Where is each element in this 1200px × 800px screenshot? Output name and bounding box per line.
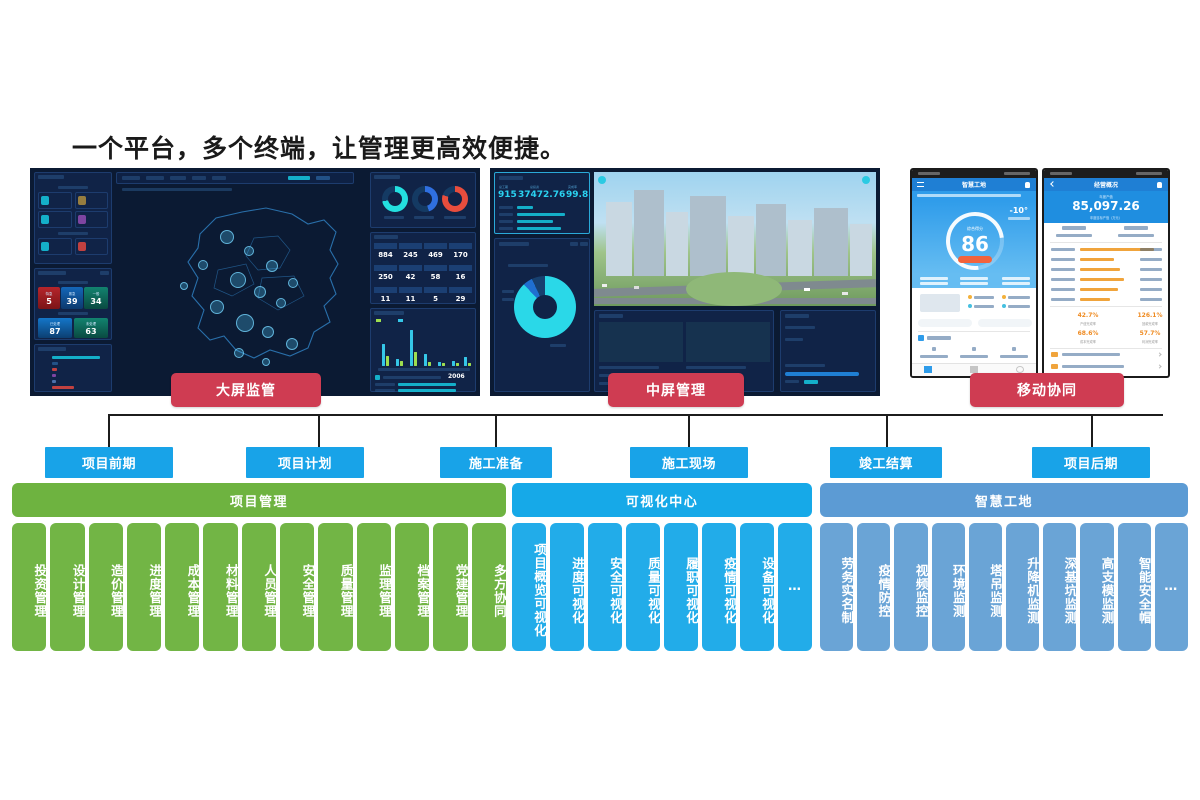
bs-filter-chip[interactable] <box>192 176 206 180</box>
group-card-list: 劳务实名制疫情防控视频监控环境监测塔吊监测升降机监测深基坑监测高支模监测智能安全… <box>820 523 1188 651</box>
people-grid-header <box>424 243 447 249</box>
bs-subtitle <box>58 312 88 315</box>
group-card-list: 投资管理设计管理造价管理进度管理成本管理材料管理人员管理安全管理质量管理监理管理… <box>12 523 506 651</box>
people-grid-value: 16 <box>449 273 472 281</box>
people-icon <box>918 335 924 341</box>
tree-horizontal-line <box>108 414 1163 416</box>
people-grid-value: 29 <box>449 295 472 303</box>
finance-row-amount <box>1140 258 1162 261</box>
people-grid-header <box>424 265 447 271</box>
helmet-icon <box>41 242 49 251</box>
card-pm-2[interactable]: 造价管理 <box>89 523 123 651</box>
finance-row-amount <box>1140 288 1162 291</box>
finance-row-bar <box>1080 278 1124 281</box>
bs-panel-ranking <box>34 344 112 392</box>
score-hero: -10° 综合得分 86 <box>912 200 1036 274</box>
bs-stat-value: 5 <box>46 298 52 306</box>
score-value: 86 <box>946 232 1004 256</box>
hero-footer <box>912 274 1036 288</box>
bs-rank-bar <box>52 362 58 365</box>
ms-panel-donut-title <box>499 242 529 246</box>
ms-progress-chip <box>804 380 818 384</box>
bs-stat-card: 未处理 63 <box>74 318 108 338</box>
group-title: 可视化中心 <box>512 483 812 517</box>
finance-row-bar <box>1080 288 1118 291</box>
badge-mid-screen[interactable]: 中屏管理 <box>608 373 744 407</box>
finance-row-bar <box>1080 268 1120 271</box>
finance-row-label <box>1051 278 1075 281</box>
bs-divider-label <box>58 232 88 235</box>
people-grid-value: 11 <box>374 295 397 303</box>
phase-button-0[interactable]: 项目前期 <box>45 447 173 478</box>
ms-progress-label <box>785 338 803 341</box>
bs-year-caption <box>383 376 441 379</box>
card-sw-0[interactable]: 劳务实名制 <box>820 523 853 651</box>
card-vc-1[interactable]: 进度可视化 <box>550 523 584 651</box>
alert-icon <box>78 242 86 251</box>
bs-progress-label <box>375 383 395 386</box>
finance-percent-value: 42.7% <box>1068 312 1108 319</box>
people-grid-value: 42 <box>399 273 422 281</box>
info-icon <box>375 375 380 380</box>
bs-panel-trend-title <box>374 311 404 315</box>
bs-stat-value: 63 <box>85 328 96 336</box>
map-marker[interactable] <box>210 300 224 314</box>
bs-filter-chip[interactable] <box>316 176 330 180</box>
card-sw-4[interactable]: 塔吊监测 <box>969 523 1002 651</box>
ms-info-value <box>517 206 533 209</box>
legend-swatch <box>398 319 403 322</box>
people-count <box>1012 347 1016 351</box>
app-header: 经营概况 <box>1044 178 1168 191</box>
bar-chart-axis-labels <box>378 368 470 371</box>
finance-percent-label: 回款完成率 <box>1130 321 1170 326</box>
map-marker[interactable] <box>180 282 188 290</box>
map-marker[interactable] <box>254 286 266 298</box>
card-vc-5[interactable]: 疫情可视化 <box>702 523 736 651</box>
phase-button-1[interactable]: 项目计划 <box>246 447 364 478</box>
finance-row-label <box>1051 248 1075 251</box>
shield-icon <box>598 176 606 184</box>
card-pm-7[interactable]: 安全管理 <box>280 523 314 651</box>
document-icon <box>41 196 49 205</box>
group-visualization-center: 可视化中心 项目概览可视化进度可视化安全可视化质量可视化履职可视化疫情可视化设备… <box>512 483 812 517</box>
metric-dot <box>1002 295 1006 299</box>
metric-dot <box>968 295 972 299</box>
bs-filter-active-chip[interactable] <box>288 176 310 180</box>
summary-row <box>1044 223 1168 241</box>
app-header: 智慧工地 <box>912 178 1036 191</box>
phase-button-4[interactable]: 竣工结算 <box>830 447 942 478</box>
finance-row-amount <box>1140 268 1162 271</box>
finance-percent-value: 57.7% <box>1130 330 1170 337</box>
card-pm-9[interactable]: 监理管理 <box>357 523 391 651</box>
people-label <box>920 355 948 358</box>
group-card-list: 项目概览可视化进度可视化安全可视化质量可视化履职可视化疫情可视化设备可视化… <box>512 523 812 651</box>
card-pm-3[interactable]: 进度管理 <box>127 523 161 651</box>
people-grid-value: 58 <box>424 273 447 281</box>
badge-mobile[interactable]: 移动协同 <box>970 373 1124 407</box>
bs-stat-label: 未处理 <box>86 321 96 326</box>
finance-percent-value: 68.6% <box>1068 330 1108 337</box>
group-project-management: 项目管理 投资管理设计管理造价管理进度管理成本管理材料管理人员管理安全管理质量管… <box>12 483 506 517</box>
amount-hero: 年度产值 85,097.26 年度目标产值（万元） <box>1044 191 1168 223</box>
bs-stat-label: 紧急 <box>69 291 76 296</box>
ms-progress-label <box>785 326 815 329</box>
ms-info-value <box>517 220 553 223</box>
card-sw-8[interactable]: 智能安全帽 <box>1118 523 1151 651</box>
chevron-right-icon[interactable] <box>1157 364 1161 368</box>
finance-row-amount <box>1140 298 1162 301</box>
ms-panel-project-info <box>494 172 590 234</box>
finance-row-amount <box>1140 278 1162 281</box>
finance-percent-label: 利润完成率 <box>1130 339 1170 344</box>
bs-panel-ranking-title <box>38 347 66 351</box>
legend-swatch <box>376 319 381 322</box>
card-sw-6[interactable]: 深基坑监测 <box>1043 523 1076 651</box>
people-count <box>972 347 976 351</box>
pm25-chip <box>978 319 1032 327</box>
donut-caption <box>444 216 466 219</box>
people-icon <box>78 215 86 224</box>
people-grid-header <box>449 287 472 293</box>
card-vc-0[interactable]: 项目概览可视化 <box>512 523 546 651</box>
bs-year-value: 2006 <box>448 373 465 380</box>
list-item-label[interactable] <box>1062 365 1124 368</box>
camera-feed[interactable] <box>599 322 683 362</box>
bs-divider-label <box>58 186 88 189</box>
ms-info-key <box>499 206 513 209</box>
finance-row-amount <box>1140 248 1162 251</box>
bs-filter-chip[interactable] <box>170 176 186 180</box>
map-marker[interactable] <box>244 246 254 256</box>
phase-button-3[interactable]: 施工现场 <box>630 447 748 478</box>
bs-more-link[interactable] <box>100 271 109 275</box>
bs-stat-value: 87 <box>49 328 60 336</box>
people-grid-header <box>374 265 397 271</box>
finance-percent-value: 126.1% <box>1130 312 1170 319</box>
ms-metric-label: 总投资 <box>530 185 539 189</box>
card-sw-9[interactable]: … <box>1155 523 1188 651</box>
people-grid-value: 469 <box>424 251 447 259</box>
tree-branch <box>108 414 110 447</box>
ms-panel-camera-title <box>599 314 623 318</box>
mobile-app-dashboard: 智慧工地 -10° 综合得分 86 <box>910 168 1038 378</box>
people-grid-header <box>399 265 422 271</box>
people-grid-value: 5 <box>424 295 447 303</box>
card-vc-2[interactable]: 安全可视化 <box>588 523 622 651</box>
report-icon[interactable] <box>970 366 978 373</box>
group-title: 智慧工地 <box>820 483 1188 517</box>
card-pm-1[interactable]: 设计管理 <box>50 523 84 651</box>
card-pm-10[interactable]: 档案管理 <box>395 523 429 651</box>
camera-feed[interactable] <box>686 322 770 362</box>
app-title: 经营概况 <box>1094 180 1118 189</box>
bs-panel-people-title <box>374 235 398 239</box>
card-vc-4[interactable]: 履职可视化 <box>664 523 698 651</box>
chevron-right-icon[interactable] <box>1157 352 1161 356</box>
bs-panel-overview-title <box>38 175 64 179</box>
finance-row-bar <box>1080 258 1114 261</box>
card-vc-6[interactable]: 设备可视化 <box>740 523 774 651</box>
people-grid-header <box>449 265 472 271</box>
bs-panel-alarms-title <box>38 271 66 275</box>
bell-icon[interactable] <box>1025 182 1030 188</box>
mobile-finance-dashboard: 经营概况 年度产值 85,097.26 年度目标产值（万元） 42.7%产值完成… <box>1042 168 1170 378</box>
device-showcase: 特急 5 紧急 39 一般 34 已处理 87 未处理 63 <box>0 168 1200 400</box>
bs-filter-chip[interactable] <box>212 176 226 180</box>
bs-stat-label: 特急 <box>46 291 53 296</box>
bs-panel-labor-title <box>374 175 400 179</box>
bell-icon[interactable] <box>1157 182 1162 188</box>
card-pm-11[interactable]: 党建管理 <box>433 523 467 651</box>
donut-legend <box>508 264 548 267</box>
bs-stat-value: 39 <box>66 298 77 306</box>
badge-big-screen[interactable]: 大屏监管 <box>171 373 321 407</box>
card-vc-3[interactable]: 质量可视化 <box>626 523 660 651</box>
card-sw-1[interactable]: 疫情防控 <box>857 523 890 651</box>
settings-icon[interactable] <box>862 176 870 184</box>
ms-metric-value: 99.8 <box>566 190 588 200</box>
bs-filter-chip[interactable] <box>122 176 140 180</box>
bs-stat-label: 已处理 <box>50 321 60 326</box>
mid-screen-dashboard: 总工期 总投资 完成率 915 37472.76 99.8 <box>490 168 880 396</box>
site-illustration <box>920 294 960 312</box>
camera-caption <box>599 366 659 369</box>
donut-callout <box>502 298 514 301</box>
people-label <box>1000 355 1028 358</box>
bs-stat-card: 一般 34 <box>84 287 108 309</box>
card-pm-0[interactable]: 投资管理 <box>12 523 46 651</box>
finance-row-label <box>1051 268 1075 271</box>
bs-stat-label: 一般 <box>93 291 100 296</box>
ms-panel-title <box>499 176 523 180</box>
chart-icon <box>41 215 49 224</box>
people-grid-header <box>374 243 397 249</box>
tree-branch <box>1091 414 1093 447</box>
back-icon[interactable] <box>1050 181 1056 187</box>
people-label <box>960 355 988 358</box>
ms-info-value <box>517 213 565 216</box>
map-marker[interactable] <box>266 260 278 272</box>
ms-toggle[interactable] <box>570 242 578 246</box>
profile-icon[interactable] <box>1016 366 1024 373</box>
ms-panel-progress-title <box>785 314 809 318</box>
score-badge <box>958 256 992 263</box>
ms-metric-value: 915 <box>498 190 517 200</box>
donut-chart <box>412 186 438 212</box>
bs-rank-bar <box>52 374 56 377</box>
big-screen-dashboard: 特急 5 紧急 39 一般 34 已处理 87 未处理 63 <box>30 168 480 396</box>
ms-progress-bar <box>785 372 859 376</box>
finance-row-label <box>1051 258 1075 261</box>
card-pm-4[interactable]: 成本管理 <box>165 523 199 651</box>
people-grid-value: 170 <box>449 251 472 259</box>
bs-stat-card: 特急 5 <box>38 287 60 309</box>
card-sw-3[interactable]: 环境监测 <box>932 523 965 651</box>
map-marker[interactable] <box>262 358 270 366</box>
ms-info-key <box>499 227 513 230</box>
camera-caption <box>686 366 746 369</box>
bs-progress-bar <box>398 389 456 392</box>
connector-tree <box>0 414 1200 450</box>
card-pm-8[interactable]: 质量管理 <box>318 523 352 651</box>
notice-banner[interactable] <box>912 191 1036 200</box>
ms-metric-label: 总工期 <box>499 185 508 189</box>
bar-chart <box>378 326 472 366</box>
donut-caption <box>384 216 404 219</box>
metric-dot <box>1002 304 1006 308</box>
page-title: 一个平台，多个终端，让管理更高效便捷。 <box>72 129 566 165</box>
phase-button-5[interactable]: 项目后期 <box>1032 447 1150 478</box>
bs-subtitle <box>58 281 88 284</box>
finance-percent-label: 产值完成率 <box>1068 321 1108 326</box>
card-pm-5[interactable]: 材料管理 <box>203 523 237 651</box>
bs-progress-bar <box>398 383 456 386</box>
card-sw-7[interactable]: 高支模监测 <box>1080 523 1113 651</box>
bs-rank-bar <box>52 380 56 383</box>
pm10-chip <box>918 319 972 327</box>
status-bar <box>1044 170 1168 178</box>
finance-percent-label: 成本完成率 <box>1068 339 1108 344</box>
list-item-label[interactable] <box>1062 353 1120 356</box>
amount-subcaption: 年度目标产值（万元） <box>1044 215 1168 220</box>
people-grid-header <box>449 243 472 249</box>
map-marker[interactable] <box>230 272 246 288</box>
card-sw-2[interactable]: 视频监控 <box>894 523 927 651</box>
ms-info-key <box>499 213 513 216</box>
map-marker[interactable] <box>198 260 208 270</box>
bs-progress-label <box>375 389 395 392</box>
list-icon <box>1051 364 1058 369</box>
bs-rank-bar <box>52 368 57 371</box>
menu-icon[interactable] <box>917 182 924 187</box>
bs-stat-card: 已处理 87 <box>38 318 72 338</box>
list-icon <box>1051 352 1058 357</box>
site-photo <box>594 172 876 306</box>
bs-stat-card: 紧急 39 <box>61 287 83 309</box>
card-pm-6[interactable]: 人员管理 <box>242 523 276 651</box>
map-marker[interactable] <box>276 298 286 308</box>
finance-row-label <box>1051 298 1075 301</box>
group-smart-worksite: 智慧工地 劳务实名制疫情防控视频监控环境监测塔吊监测升降机监测深基坑监测高支模监… <box>820 483 1188 517</box>
donut-callout <box>550 344 566 347</box>
people-grid-header <box>424 287 447 293</box>
map-marker[interactable] <box>262 326 274 338</box>
people-grid-value: 884 <box>374 251 397 259</box>
bs-timeline <box>122 188 232 191</box>
donut-chart <box>442 186 468 212</box>
map-marker[interactable] <box>286 338 298 350</box>
people-grid-header <box>374 287 397 293</box>
people-grid-header <box>399 287 422 293</box>
map-marker[interactable] <box>220 230 234 244</box>
map-marker[interactable] <box>236 314 254 332</box>
coins-icon <box>78 196 86 205</box>
card-vc-7[interactable]: … <box>778 523 812 651</box>
donut-chart <box>514 276 576 338</box>
bs-rank-bar <box>52 356 100 359</box>
people-grid-header <box>399 243 422 249</box>
finance-row-bar <box>1080 298 1110 301</box>
ms-progress-label <box>785 380 799 383</box>
people-count <box>932 347 936 351</box>
home-icon[interactable] <box>924 366 932 373</box>
map-marker[interactable] <box>288 278 298 288</box>
group-title: 项目管理 <box>12 483 506 517</box>
ms-info-value <box>517 227 561 230</box>
people-section-title <box>927 336 951 340</box>
map-marker[interactable] <box>234 348 244 358</box>
amount-value: 85,097.26 <box>1044 199 1168 213</box>
status-bar <box>912 170 1036 178</box>
donut-callout <box>502 290 514 293</box>
people-grid-value: 11 <box>399 295 422 303</box>
metric-dot <box>968 304 972 308</box>
ms-progress-label <box>785 364 825 367</box>
tree-branch <box>886 414 888 447</box>
people-grid-value: 245 <box>399 251 422 259</box>
finance-row-label <box>1051 288 1075 291</box>
card-pm-12[interactable]: 多方协同 <box>472 523 506 651</box>
temperature-value: -10° <box>1010 206 1028 215</box>
tree-branch <box>495 414 497 447</box>
environment-panel <box>912 288 1036 318</box>
phase-button-2[interactable]: 施工准备 <box>440 447 552 478</box>
ms-metric-label: 完成率 <box>568 185 577 189</box>
donut-caption <box>414 216 434 219</box>
donut-hole <box>382 186 408 212</box>
bs-stat-value: 34 <box>90 298 101 306</box>
bs-filter-chip[interactable] <box>146 176 164 180</box>
ms-info-key <box>499 220 513 223</box>
app-title: 智慧工地 <box>962 180 986 189</box>
weather-caption <box>1008 217 1030 220</box>
ms-metric-value: 37472.76 <box>518 190 565 200</box>
bs-rank-bar <box>52 386 74 389</box>
tree-branch <box>318 414 320 447</box>
people-grid-value: 250 <box>374 273 397 281</box>
tree-branch <box>688 414 690 447</box>
ms-toggle[interactable] <box>580 242 588 246</box>
card-sw-5[interactable]: 升降机监测 <box>1006 523 1039 651</box>
